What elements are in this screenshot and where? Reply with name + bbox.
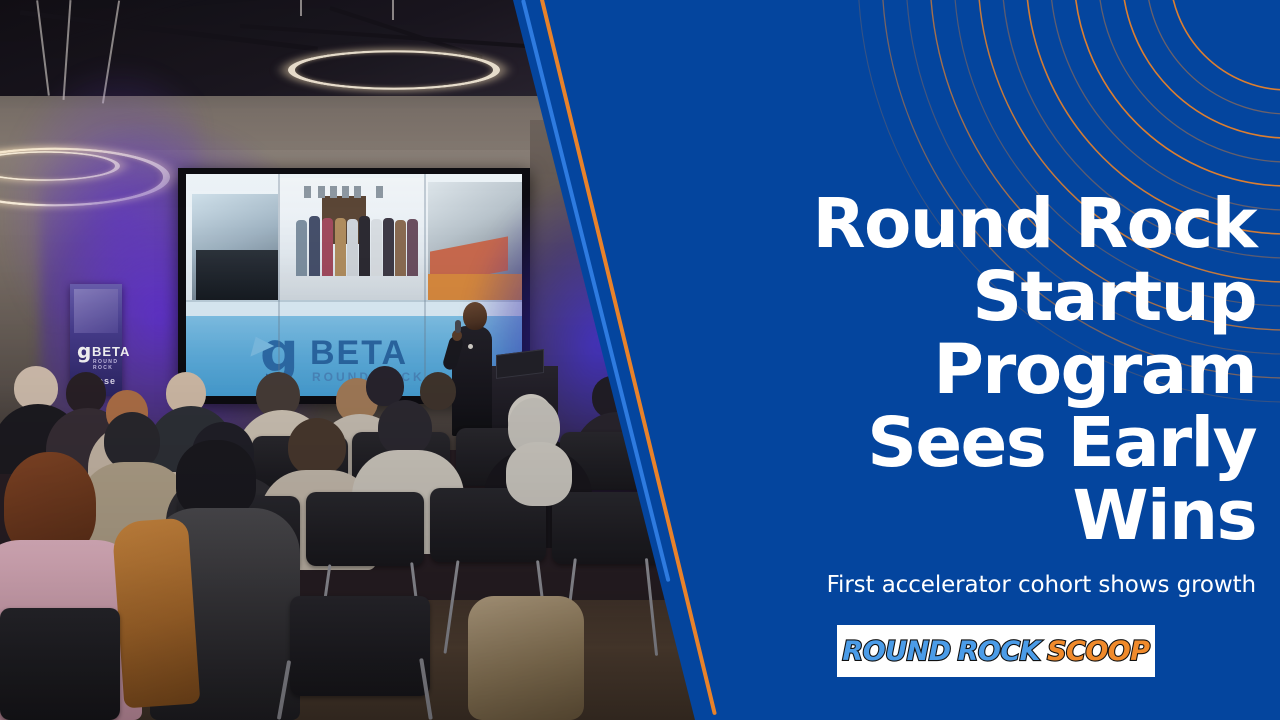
logo-word-round: ROUND: [842, 638, 950, 665]
logo-word-scoop: SCOOP: [1047, 638, 1149, 665]
page-title: Round Rock Startup Program Sees Early Wi…: [716, 188, 1256, 553]
page-subtitle: First accelerator cohort shows growth: [716, 572, 1256, 598]
logo-word-rock: ROCK: [958, 638, 1040, 665]
news-graphic-card: g BETA ROUND ROCK g BETA ROUND ROCK wcas…: [0, 0, 1280, 720]
round-rock-scoop-logo[interactable]: ROUND ROCK SCOOP: [837, 625, 1155, 677]
